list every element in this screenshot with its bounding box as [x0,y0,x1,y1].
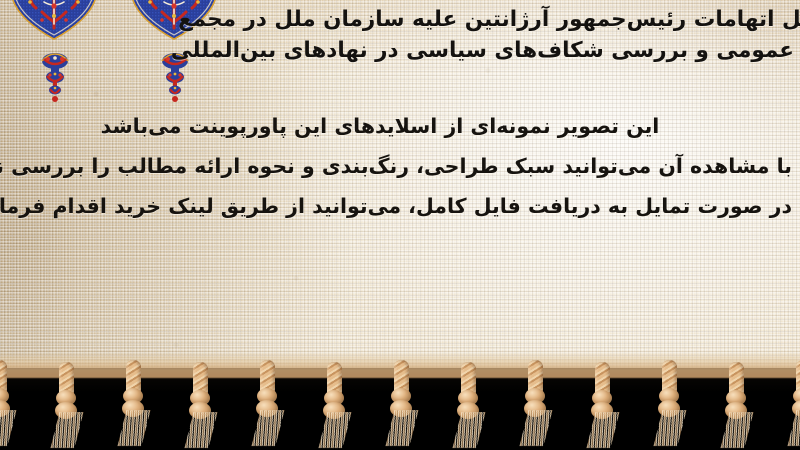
slide-body-line-1: این تصویر نمونه‌ای از اسلایدهای این پاور… [8,106,792,146]
tassel-brush [721,412,754,448]
tassel-brush [453,412,486,448]
fringe-tassel [321,362,347,448]
fringe-tassel [656,360,682,446]
fringe-tassel [120,360,146,446]
fringe-tassel [388,360,414,446]
tassel-brush [185,412,218,448]
slide-body-text: این تصویر نمونه‌ای از اسلایدهای این پاور… [8,106,792,226]
tassel-brush [788,410,800,446]
fringe-tassel [455,362,481,448]
tassel-brush [520,410,553,446]
tassel-brush [118,410,151,446]
fringe-tassel [589,362,615,448]
slide-body-line-3: در صورت تمایل به دریافت فایل کامل، می‌تو… [8,186,792,226]
slide-title-line-1: لیل اتهامات رئیس‌جمهور آرژانتین علیه ساز… [14,4,800,35]
fringe-tassel [790,360,800,446]
tassel-brush [0,410,16,446]
fringe-tassel [522,360,548,446]
slide-body-line-2: با مشاهده آن می‌توانید سبک طراحی، رنگ‌بن… [8,146,792,186]
tassel-brush [319,412,352,448]
fringe-tassel [254,360,280,446]
presentation-slide: لیل اتهامات رئیس‌جمهور آرژانتین علیه ساز… [0,0,800,450]
fringe-tassel [187,362,213,448]
tassel-brush [51,412,84,448]
carpet-fringe-tassels [0,360,800,450]
slide-title-line-2: عمومی و بررسی شکاف‌های سیاسی در نهادهای … [14,35,794,66]
tassel-brush [386,410,419,446]
slide-title: لیل اتهامات رئیس‌جمهور آرژانتین علیه ساز… [14,4,794,66]
tassel-brush [252,410,285,446]
fringe-tassel [0,360,12,446]
fringe-tassel [723,362,749,448]
fringe-tassel [53,362,79,448]
tassel-brush [654,410,687,446]
tassel-brush [587,412,620,448]
